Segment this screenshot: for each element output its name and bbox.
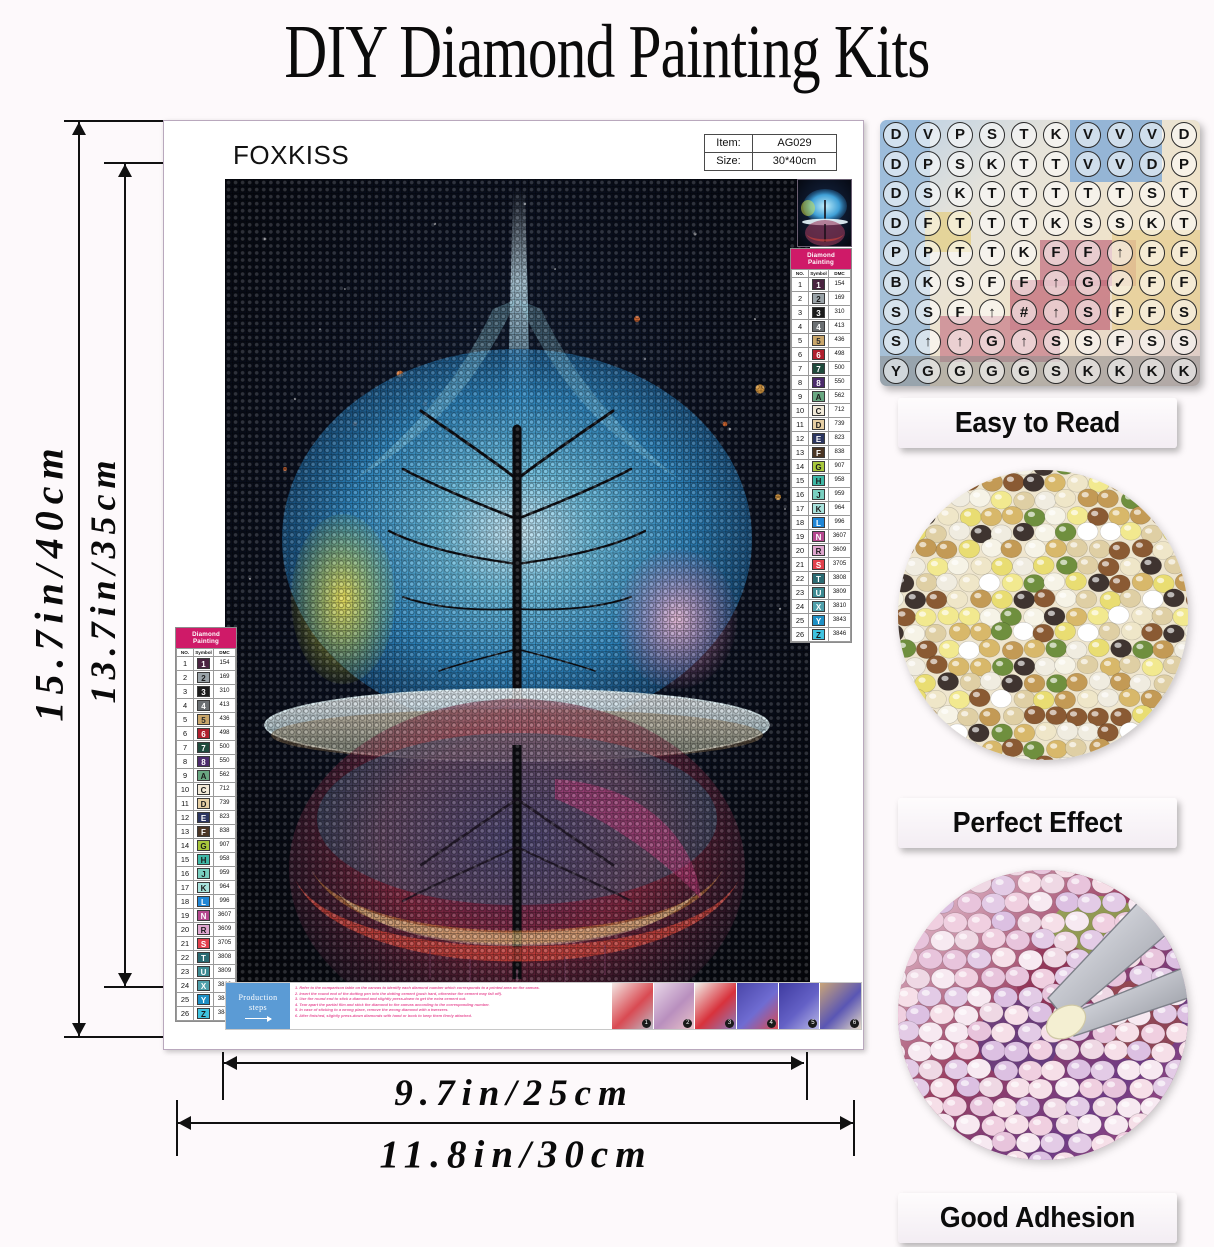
legend-title-left: Diamond Painting [176, 628, 236, 648]
bead-highlight [924, 1138, 932, 1144]
bead-highlight [1145, 626, 1152, 631]
symbol-cell: T [1168, 179, 1200, 209]
diamond-bead [1130, 1079, 1154, 1099]
legend-cell-dmc: 562 [829, 389, 851, 403]
symbol-ring: S [1075, 299, 1101, 325]
bead-highlight [1006, 510, 1013, 515]
diamond-bead [982, 539, 1003, 557]
diamond-bead [1166, 1134, 1188, 1154]
bead-highlight [1017, 495, 1024, 500]
bead-highlight [910, 526, 917, 531]
bead-highlight [953, 626, 960, 631]
diamond-bead [1065, 911, 1089, 931]
diamond-bead [1162, 723, 1183, 741]
bead-highlight [1177, 543, 1184, 548]
legend-cell-dmc: 958 [829, 473, 851, 487]
symbol-ring: K [1043, 122, 1069, 148]
diamond-bead [926, 656, 947, 674]
diamond-bead [1109, 507, 1130, 525]
symbol-ring: T [1171, 210, 1197, 236]
bead-highlight [1071, 477, 1078, 482]
inner-height-line [124, 164, 126, 986]
bead-highlight [1005, 678, 1012, 683]
item-label: Item: [705, 135, 753, 153]
legend-row: 12E823 [792, 431, 851, 445]
diamond-bead [1151, 473, 1172, 491]
diamond-bead [1141, 557, 1162, 575]
legend-row: 12E823 [177, 810, 236, 824]
production-step-thumbnail: 1 [611, 983, 653, 1029]
bead-highlight [923, 952, 931, 958]
bead-highlight [960, 1118, 968, 1124]
symbol-ring: T [979, 210, 1005, 236]
diamond-bead [1068, 1133, 1092, 1153]
diamond-bead [1119, 655, 1140, 673]
bead-highlight [1103, 626, 1110, 631]
bead-highlight [940, 544, 947, 549]
legend-cell-no: 15 [177, 852, 194, 866]
bead-highlight [1113, 578, 1120, 583]
diamond-bead [982, 893, 1006, 913]
bead-highlight [1109, 1119, 1117, 1125]
legend-color-chip: 6 [197, 728, 210, 739]
bead-highlight [1157, 578, 1164, 583]
legend-cell-no: 23 [177, 964, 194, 978]
legend-row: 77500 [177, 740, 236, 754]
bead-highlight [1145, 1101, 1153, 1107]
bead-highlight [1006, 645, 1013, 650]
bead-highlight [908, 628, 915, 633]
legend-color-chip: R [812, 545, 825, 556]
bead-highlight [949, 1026, 957, 1032]
legend-cell-dmc: 3810 [829, 599, 851, 613]
symbol-cell: T [976, 179, 1008, 209]
legend-color-chip: 4 [812, 321, 825, 332]
diamond-bead [1164, 1097, 1188, 1117]
diamond-bead [1090, 739, 1111, 757]
feature-label-perfect-effect: Perfect Effect [898, 798, 1177, 848]
production-steps-strip: Production steps 1. Refer to the compari… [225, 982, 862, 1030]
diamond-bead [1002, 739, 1023, 757]
feature-image-easy-to-read: DVPSTKVVVDDPSKTTVVDPDSKTTTTTSTDFTTTKSSKT… [880, 120, 1200, 386]
symbol-ring: F [1011, 270, 1037, 296]
symbol-ring: ↑ [947, 329, 973, 355]
diamond-bead [1097, 490, 1118, 508]
legend-row: 14G907 [177, 838, 236, 852]
outer-height-bottom-tick [64, 1036, 174, 1038]
diamond-bead [1024, 674, 1045, 692]
diamond-bead [1151, 1115, 1175, 1135]
bead-highlight [1167, 628, 1174, 633]
bead-highlight [1018, 693, 1025, 698]
diamond-bead [1044, 573, 1065, 591]
legend-cell-dmc: 169 [214, 670, 236, 684]
symbol-ring: G [947, 358, 973, 384]
bead-highlight [1124, 593, 1131, 598]
symbol-cell: P [912, 238, 944, 268]
bead-highlight [1177, 476, 1184, 481]
bead-highlight [962, 644, 969, 649]
legend-color-chip: L [812, 517, 825, 528]
symbol-ring: F [1139, 270, 1165, 296]
bead-highlight [983, 642, 990, 647]
diamond-bead [1104, 1040, 1128, 1060]
bead-highlight [1145, 952, 1153, 958]
legend-cell-dmc: 550 [829, 375, 851, 389]
symbol-cell: D [1168, 120, 1200, 150]
legend-cell-symbol: N [194, 908, 214, 922]
diamond-bead [931, 1114, 955, 1134]
symbol-ring: Y [883, 358, 909, 384]
diamond-bead [1088, 574, 1109, 592]
diamond-bead [1076, 590, 1097, 608]
outer-width-arrow-right [840, 1116, 853, 1130]
symbol-cell: P [1168, 150, 1200, 180]
diamond-bead [938, 607, 959, 625]
symbol-cell: S [1040, 356, 1072, 386]
symbol-ring: S [1043, 329, 1069, 355]
symbol-cell: D [880, 179, 912, 209]
bead-highlight [1119, 1135, 1127, 1141]
bead-highlight [1158, 678, 1165, 683]
diamond-bead [1041, 874, 1065, 894]
diamond-bead [955, 930, 979, 950]
legend-cell-no: 4 [792, 319, 809, 333]
dmc-legend-table-right: Diamond Painting NO. Symbol DMC 11154221… [790, 248, 852, 643]
bead-highlight [1112, 609, 1119, 614]
legend-cell-symbol: C [809, 403, 829, 417]
diamond-bead [1115, 1132, 1139, 1152]
symbol-ring: G [1011, 358, 1037, 384]
diamond-bead [991, 491, 1012, 509]
outer-width-label: 11.8in/30cm [178, 1132, 854, 1177]
bead-highlight [1070, 644, 1077, 649]
bead-highlight [1011, 1081, 1019, 1087]
legend-cell-dmc: 310 [214, 684, 236, 698]
diamond-bead [1035, 722, 1056, 740]
bead-highlight [1123, 659, 1130, 664]
diamond-bead [1098, 689, 1119, 707]
outer-height-arrow-down [72, 1023, 86, 1036]
diamond-bead [982, 473, 1003, 491]
symbol-ring: T [1011, 151, 1037, 177]
size-label: Size: [705, 153, 753, 171]
diamond-bead [1153, 1077, 1177, 1097]
diamond-bead [1130, 739, 1151, 757]
bead-highlight [995, 561, 1002, 566]
bead-highlight [1131, 1044, 1139, 1050]
diamond-bead [969, 689, 990, 707]
bead-highlight [972, 917, 980, 923]
symbol-ring: K [1011, 240, 1037, 266]
diamond-bead [1088, 607, 1109, 625]
bead-highlight [1124, 525, 1131, 530]
symbol-cell: T [944, 238, 976, 268]
diamond-bead [1046, 539, 1067, 557]
symbol-ring: S [1075, 329, 1101, 355]
bead-highlight [1169, 1063, 1177, 1069]
bead-highlight [1017, 526, 1024, 531]
legend-cell-no: 16 [177, 866, 194, 880]
bead-highlight [1144, 1138, 1152, 1144]
bead-highlight [998, 1064, 1006, 1070]
diamond-bead [1046, 639, 1067, 657]
bead-highlight [1023, 1064, 1031, 1070]
diamond-bead [1120, 558, 1141, 576]
diamond-bead [1002, 641, 1023, 659]
bead-highlight [949, 879, 957, 885]
diamond-bead [1014, 690, 1035, 708]
bead-highlight [1177, 611, 1184, 616]
bead-highlight [934, 1008, 942, 1014]
bead-highlight [995, 625, 1002, 630]
diamond-bead [992, 1132, 1016, 1152]
symbol-cell: ↑ [1104, 238, 1136, 268]
artwork-image [225, 179, 810, 999]
bead-highlight [1048, 576, 1055, 581]
legend-cell-no: 14 [792, 459, 809, 473]
legend-cell-no: 22 [792, 571, 809, 585]
bead-highlight [1050, 678, 1057, 683]
diamond-bead [919, 1060, 943, 1080]
bead-highlight [941, 676, 948, 681]
legend-header-row: NO. Symbol DMC [177, 648, 236, 656]
symbol-cell: K [1072, 356, 1104, 386]
bead-highlight [1114, 643, 1121, 648]
legend-cell-symbol: J [194, 866, 214, 880]
legend-cell-symbol: D [194, 796, 214, 810]
diamond-bead [1077, 556, 1098, 574]
bead-highlight [962, 897, 970, 903]
diamond-bead [967, 873, 991, 893]
symbol-cell: F [1168, 238, 1200, 268]
legend-row: 21S3705 [177, 936, 236, 950]
legend-cell-no: 6 [177, 726, 194, 740]
diamond-bead [898, 1059, 920, 1079]
bead-highlight [1156, 743, 1163, 748]
symbol-ring: G [979, 358, 1005, 384]
legend-row: 22T3808 [177, 950, 236, 964]
legend-body-left: 1115422169333104441355436664987750088550… [177, 656, 236, 1020]
bead-highlight [1045, 1136, 1053, 1142]
legend-cell-no: 5 [792, 333, 809, 347]
legend-row: 11D739 [177, 796, 236, 810]
diamond-bead [949, 623, 970, 641]
diamond-bead [1078, 723, 1099, 741]
legend-color-chip: U [812, 587, 825, 598]
diamond-bead [917, 708, 938, 726]
symbol-cell: S [1168, 297, 1200, 327]
bead-highlight [1035, 972, 1043, 978]
bead-highlight [1107, 1081, 1115, 1087]
diamond-bead [1056, 1115, 1080, 1135]
legend-cell-symbol: U [809, 585, 829, 599]
diamond-bead [1089, 672, 1110, 690]
bead-highlight [1136, 709, 1143, 714]
bead-highlight [1156, 545, 1163, 550]
symbol-ring: P [883, 240, 909, 266]
bead-highlight [961, 743, 968, 748]
bead-highlight [953, 525, 960, 530]
bead-highlight [1134, 476, 1141, 481]
symbol-ring: P [1171, 151, 1197, 177]
bead-highlight [1092, 477, 1099, 482]
bead-highlight [1136, 542, 1143, 547]
legend-row: 10C712 [792, 403, 851, 417]
diamond-bead [915, 742, 936, 760]
inner-width-line [224, 1062, 804, 1064]
diamond-bead [1119, 689, 1140, 707]
diamond-bead [958, 893, 982, 913]
bead-highlight [1036, 932, 1044, 938]
bead-highlight [1070, 542, 1077, 547]
symbol-ring: T [1011, 122, 1037, 148]
symbol-ring: G [915, 358, 941, 384]
legend-color-chip: 5 [812, 335, 825, 346]
symbol-ring: F [1107, 329, 1133, 355]
legend-cell-no: 24 [177, 978, 194, 992]
diamond-bead [905, 591, 926, 609]
bead-highlight [1179, 576, 1186, 581]
legend-color-chip: K [197, 882, 210, 893]
legend-cell-no: 25 [792, 613, 809, 627]
bead-highlight [1010, 970, 1018, 976]
diamond-bead [959, 574, 980, 592]
legend-cell-dmc: 498 [829, 347, 851, 361]
symbol-ring: T [1011, 210, 1037, 236]
legend-row: 22T3808 [792, 571, 851, 585]
symbol-cell: F [1040, 238, 1072, 268]
symbol-cell: V [1072, 150, 1104, 180]
legend-title-line1: Diamond [176, 631, 236, 638]
production-badge-line1: Production [238, 993, 277, 1003]
legend-cell-symbol: N [809, 529, 829, 543]
legend-color-chip: S [197, 938, 210, 949]
diamond-bead [1055, 523, 1076, 541]
diamond-bead [954, 968, 978, 988]
bead-highlight [1134, 510, 1141, 515]
symbol-ring: T [1075, 181, 1101, 207]
bead-highlight [1170, 1026, 1178, 1032]
bead-highlight [929, 528, 936, 533]
bead-highlight [1033, 1044, 1041, 1050]
diamond-bead [1006, 930, 1030, 950]
bead-highlight [1135, 610, 1142, 615]
diamond-bead [1016, 1097, 1040, 1117]
diamond-bead [939, 640, 960, 658]
legend-row: 16J959 [792, 487, 851, 501]
symbol-cell: F [1072, 238, 1104, 268]
bead-highlight [907, 726, 914, 731]
symbol-cell: T [1008, 150, 1040, 180]
bead-highlight [1028, 512, 1035, 517]
diamond-bead [1005, 1114, 1029, 1134]
bead-highlight [1091, 711, 1098, 716]
bead-highlight [959, 971, 967, 977]
symbol-cell: Y [880, 356, 912, 386]
symbol-ring: V [1075, 122, 1101, 148]
symbol-cell: D [1136, 150, 1168, 180]
production-steps-badge: Production steps [226, 983, 290, 1029]
diamond-bead [1079, 1078, 1103, 1098]
bead-highlight [947, 1100, 955, 1106]
legend-header-sym: Symbol [809, 269, 829, 277]
bead-highlight [1114, 676, 1121, 681]
bead-highlight [1178, 644, 1185, 649]
bead-highlight [959, 1043, 967, 1049]
inner-height-top-tick [104, 162, 164, 164]
symbol-ring: T [979, 240, 1005, 266]
symbol-ring: F [915, 210, 941, 236]
diamond-bead [1139, 1060, 1163, 1080]
bead-highlight [1007, 710, 1014, 715]
diamond-bead [937, 706, 958, 724]
legend-cell-symbol: G [809, 459, 829, 473]
size-value: 30*40cm [753, 153, 837, 171]
diamond-painting-canvas-sheet[interactable]: FOXKISS Item: AG029 Size: 30*40cm [163, 120, 864, 1050]
bead-highlight [1027, 611, 1034, 616]
symbol-ring: S [947, 270, 973, 296]
diamond-bead [926, 591, 947, 609]
bead-highlight [964, 511, 971, 516]
diamond-bead [917, 986, 941, 1006]
bead-highlight [1017, 626, 1024, 631]
bead-highlight [929, 627, 936, 632]
symbol-ring: F [1075, 240, 1101, 266]
legend-cell-no: 12 [177, 810, 194, 824]
symbol-cell: T [1168, 209, 1200, 239]
diamond-bead [1091, 1061, 1115, 1081]
step-number-badge: 1 [642, 1019, 651, 1028]
symbol-cell: S [880, 327, 912, 357]
diamond-bead [1132, 539, 1153, 557]
diamond-bead [1041, 1133, 1065, 1153]
diamond-bead [1046, 740, 1067, 758]
diamond-bead [959, 540, 980, 558]
legend-row: 13F838 [792, 445, 851, 459]
legend-cell-dmc: 959 [214, 866, 236, 880]
symbol-cell: T [1008, 120, 1040, 150]
bead-highlight [1058, 626, 1065, 631]
legend-color-chip: 1 [812, 279, 825, 290]
symbol-cell: # [1008, 297, 1040, 327]
symbol-cell: S [912, 179, 944, 209]
symbol-ring: S [915, 181, 941, 207]
bead-highlight [942, 477, 949, 482]
diamond-bead [1002, 574, 1023, 592]
diamond-bead [916, 539, 937, 557]
legend-cell-dmc: 169 [829, 291, 851, 305]
bead-highlight [1101, 727, 1108, 732]
legend-cell-symbol: E [809, 431, 829, 445]
symbol-cell: D [880, 150, 912, 180]
diamond-bead [1035, 658, 1056, 676]
bead-highlight [1123, 726, 1130, 731]
diamond-bead [1110, 673, 1131, 691]
bead-highlight [1144, 1063, 1152, 1069]
bead-highlight [951, 560, 958, 565]
legend-color-chip: E [197, 812, 210, 823]
legend-color-chip: E [812, 433, 825, 444]
diamond-bead [1003, 707, 1024, 725]
legend-cell-dmc: 838 [829, 445, 851, 459]
diamond-bead [1066, 572, 1087, 590]
bead-highlight [1029, 543, 1036, 548]
bead-highlight [974, 1138, 982, 1144]
legend-row: 21S3705 [792, 557, 851, 571]
inner-height-label: 13.7in/35cm [82, 414, 124, 744]
bead-highlight [1166, 726, 1173, 731]
